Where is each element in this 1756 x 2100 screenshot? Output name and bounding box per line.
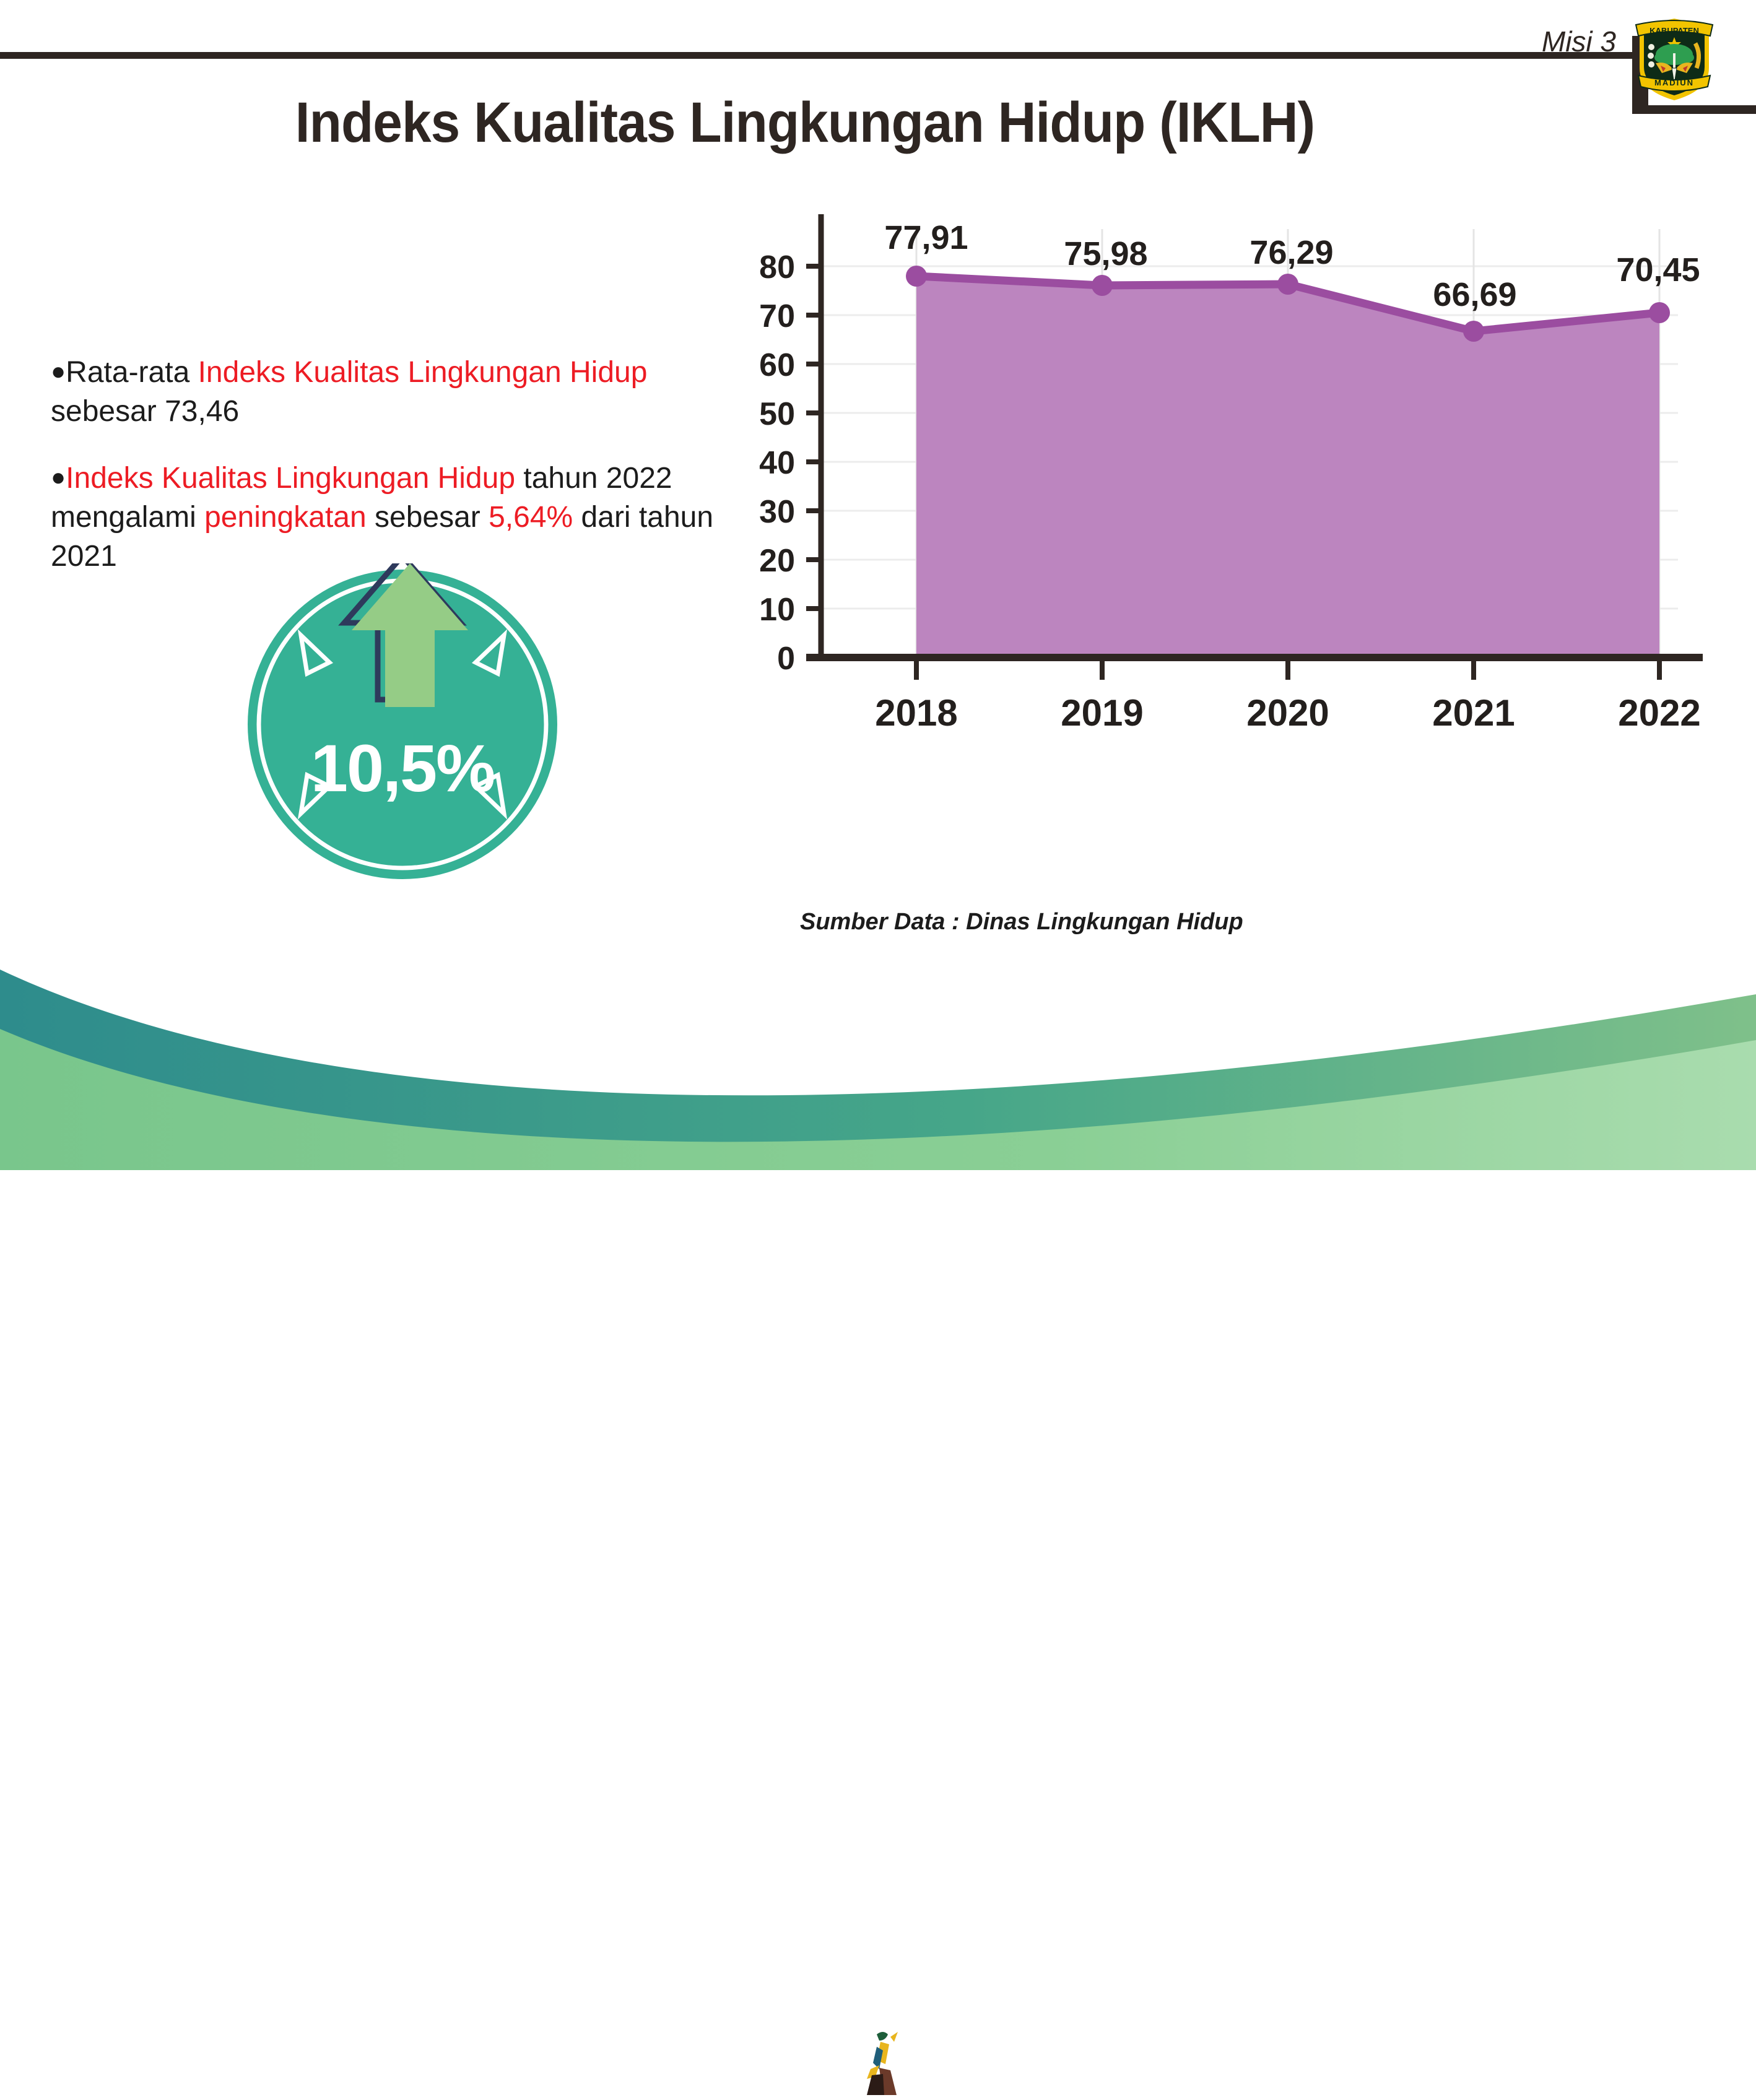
y-tick-label: 70: [759, 298, 795, 334]
footer-text: Media Infografis Data Statistik Sektoral…: [909, 2049, 1629, 2080]
x-tick-label: 2019: [1061, 692, 1143, 734]
header-rule: [0, 52, 1640, 59]
footer: Media Infografis Data Statistik Sektoral…: [0, 947, 1756, 1170]
y-tick-label: 40: [759, 445, 795, 481]
data-label: 70,45: [1616, 251, 1700, 289]
list-item: ●Rata-rata Indeks Kualitas Lingkungan Hi…: [51, 353, 719, 432]
list-item: ●Indeks Kualitas Lingkungan Hidup tahun …: [51, 459, 719, 576]
data-label: 76,29: [1250, 234, 1333, 271]
data-label: 77,91: [884, 219, 968, 256]
data-label: 66,69: [1433, 276, 1516, 313]
y-tick-label: 80: [759, 249, 795, 285]
source-note: Sumber Data : Dinas Lingkungan Hidup: [800, 909, 1243, 935]
bullet-2-part-1: Indeks Kualitas Lingkungan Hidup: [66, 462, 515, 495]
x-tick-label: 2021: [1432, 692, 1515, 734]
y-tick-label: 60: [759, 347, 795, 383]
header-bracket-foot: [1632, 105, 1756, 114]
kabupaten-madiun-coat-of-arms-icon: KABUPATEN MADIUN: [1631, 9, 1718, 103]
x-tick-label: 2022: [1618, 692, 1700, 734]
data-label: 75,98: [1064, 235, 1147, 272]
x-tick-label: 2018: [875, 692, 957, 734]
chart-svg: 80 70 60 50 40 30 20 10 0 2018 2019 2020…: [712, 204, 1703, 898]
footer-waves: [0, 947, 1756, 1170]
badge-value: 10,5%: [241, 729, 563, 807]
y-tick-label: 0: [777, 641, 795, 677]
misi-label: Misi 3: [1486, 25, 1616, 58]
bullet-dot: ●: [51, 358, 66, 385]
bullet-2-part-3: peningkatan: [204, 501, 367, 534]
y-tick-label: 10: [759, 592, 795, 628]
bullet-1-part-3: sebesar 73,46: [51, 395, 239, 428]
x-tick-label: 2020: [1246, 692, 1329, 734]
bullet-2-part-4: sebesar: [367, 501, 489, 534]
growth-badge: 10,5%: [241, 563, 563, 879]
bullet-1-part-2: Indeks Kualitas Lingkungan Hidup: [198, 356, 648, 389]
bullet-1-part-1: Rata-rata: [66, 356, 198, 389]
bullet-dot: ●: [51, 464, 66, 491]
chart-area-fill: [916, 276, 1659, 657]
y-tick-label: 50: [759, 396, 795, 432]
y-tick-label: 20: [759, 543, 795, 579]
page-title: Indeks Kualitas Lingkungan Hidup (IKLH): [56, 90, 1554, 155]
bullet-2-part-5: 5,64%: [489, 501, 573, 534]
crest-top-banner-text: KABUPATEN: [1650, 26, 1699, 35]
crest-bottom-banner-text: MADIUN: [1654, 78, 1694, 87]
dancer-logo-icon: [858, 2026, 914, 2100]
y-tick-label: 30: [759, 494, 795, 530]
iklh-area-chart: 80 70 60 50 40 30 20 10 0 2018 2019 2020…: [712, 204, 1703, 898]
